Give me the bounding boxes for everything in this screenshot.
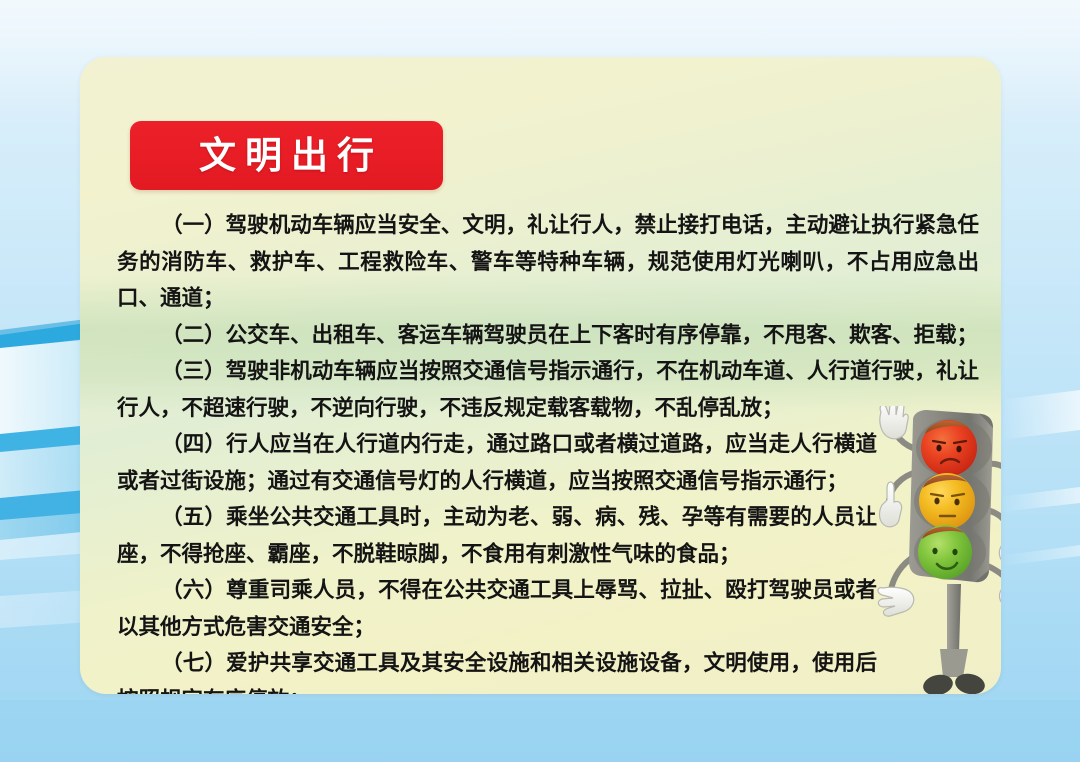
clause-list: （一）驾驶机动车辆应当安全、文明，礼让行人，禁止接打电话，主动避让执行紧急任务的… bbox=[117, 207, 979, 694]
clause-item-1: （一）驾驶机动车辆应当安全、文明，礼让行人，禁止接打电话，主动避让执行紧急任务的… bbox=[117, 207, 979, 317]
clause-item-5: （五）乘坐公共交通工具时，主动为老、弱、病、残、孕等有需要的人员让座，不得抢座、… bbox=[117, 499, 877, 572]
clause-item-6: （六）尊重司乘人员，不得在公共交通工具上辱骂、拉扯、殴打驾驶员或者以其他方式危害… bbox=[117, 572, 877, 645]
clause-item-3: （三）驾驶非机动车辆应当按照交通信号指示通行，不在机动车道、人行道行驶，礼让行人… bbox=[117, 353, 979, 426]
clause-item-2: （二）公交车、出租车、客运车辆驾驶员在上下客时有序停靠，不甩客、欺客、拒载； bbox=[117, 317, 979, 354]
glove-right-middle bbox=[999, 539, 1001, 570]
clause-item-7: （七）爱护共享交通工具及其安全设施和相关设施设备，文明使用，使用后按照规定有序停… bbox=[117, 645, 877, 694]
glove-right-lower bbox=[1000, 584, 1001, 609]
clause-item-4: （四）行人应当在人行道内行走，通过路口或者横过道路，应当走人行横道或者过街设施；… bbox=[117, 426, 877, 499]
title-badge: 文明出行 bbox=[130, 121, 443, 190]
content-card: 文明出行 （一）驾驶机动车辆应当安全、文明，礼让行人，禁止接打电话，主动避让执行… bbox=[80, 57, 1001, 694]
poster-canvas: 文明出行 （一）驾驶机动车辆应当安全、文明，礼让行人，禁止接打电话，主动避让执行… bbox=[0, 0, 1080, 762]
page-title: 文明出行 bbox=[190, 137, 383, 174]
